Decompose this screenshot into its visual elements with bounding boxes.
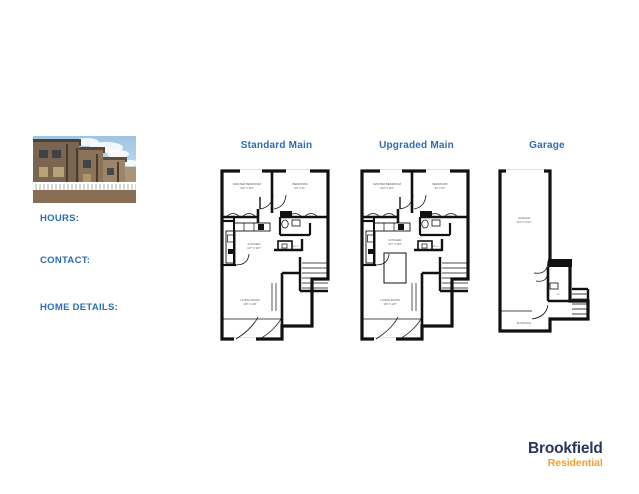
logo-secondary-text: Residential [528, 458, 603, 469]
room-dimension: 10'7" X 10'6" [247, 247, 261, 250]
plan-column-garage: Garage [492, 140, 602, 351]
window-shape [83, 160, 91, 168]
room-label: BEDROOM [433, 182, 449, 186]
room-label: GARAGE [518, 216, 530, 220]
floorplan-standard-main[interactable]: MASTER BEDROOM 10'0" X 12'6" BEDROOM 9'0… [214, 161, 339, 351]
window-shape [39, 150, 48, 158]
room-label: ENTRANCE [517, 321, 532, 325]
room-label: MASTER BEDROOM [233, 182, 261, 186]
logo-primary-text: Brookfield [528, 441, 603, 457]
floorplan-svg: GARAGE 20'0" X 19'10" ENTRANCE UP [492, 161, 602, 351]
brookfield-logo: Brookfield Residential [528, 441, 603, 468]
room-dimension: 20'0" X 19'10" [517, 221, 532, 224]
room-label: W.I.C. [293, 246, 299, 248]
room-label: KITCHEN [248, 242, 261, 246]
exterior-photo [33, 136, 136, 203]
room-label: UP [556, 294, 560, 296]
plan-column-upgraded-main: Upgraded Main [354, 140, 479, 351]
floorplan-upgraded-main[interactable]: MASTER BEDROOM 10'0" X 12'6" BEDROOM 9'0… [354, 161, 479, 351]
room-dimension: 10'0" X 12'6" [240, 187, 254, 190]
plan-title-upgraded-main: Upgraded Main [354, 140, 479, 151]
room-dimension: 9'0" X 9'1" [435, 187, 446, 190]
window-shape [107, 168, 114, 175]
page-root: HOURS: CONTACT: HOME DETAILS: Standard M… [0, 0, 639, 494]
room-dimension: 10'7" X 10'6" [388, 243, 402, 246]
info-panel: HOURS: CONTACT: HOME DETAILS: [33, 136, 193, 203]
kitchen-island [384, 253, 406, 283]
window-shape [39, 167, 48, 177]
room-label: BEDROOM [293, 182, 309, 186]
room-label: LIVING ROOM [240, 298, 260, 302]
plan-column-standard-main: Standard Main [214, 140, 339, 351]
floorplan-svg: MASTER BEDROOM 10'0" X 12'6" BEDROOM 9'0… [354, 161, 479, 351]
building-mass [33, 142, 79, 186]
label-hours: HOURS: [40, 213, 79, 224]
fence-railing [33, 182, 136, 190]
room-dimension: 10'0" X 12'6" [380, 187, 394, 190]
plan-title-garage: Garage [492, 140, 602, 151]
plan-title-standard-main: Standard Main [214, 140, 339, 151]
room-label: W.I.C. [433, 246, 439, 248]
room-label: LIVING ROOM [380, 298, 400, 302]
label-contact: CONTACT: [40, 255, 90, 266]
room-label: KITCHEN [389, 238, 402, 242]
floorplan-svg: MASTER BEDROOM 10'0" X 12'6" BEDROOM 9'0… [214, 161, 339, 351]
label-home-details: HOME DETAILS: [40, 302, 118, 313]
room-label: MASTER BEDROOM [373, 182, 401, 186]
room-dimension: 13'0" X 11'8" [243, 303, 256, 306]
window-shape [52, 150, 61, 158]
window-shape [53, 167, 64, 177]
room-dimension: 9'0" X 9'1" [295, 187, 306, 190]
room-dimension: 13'0" X 11'8" [383, 303, 396, 306]
floorplan-garage[interactable]: GARAGE 20'0" X 19'10" ENTRANCE UP [492, 161, 602, 351]
